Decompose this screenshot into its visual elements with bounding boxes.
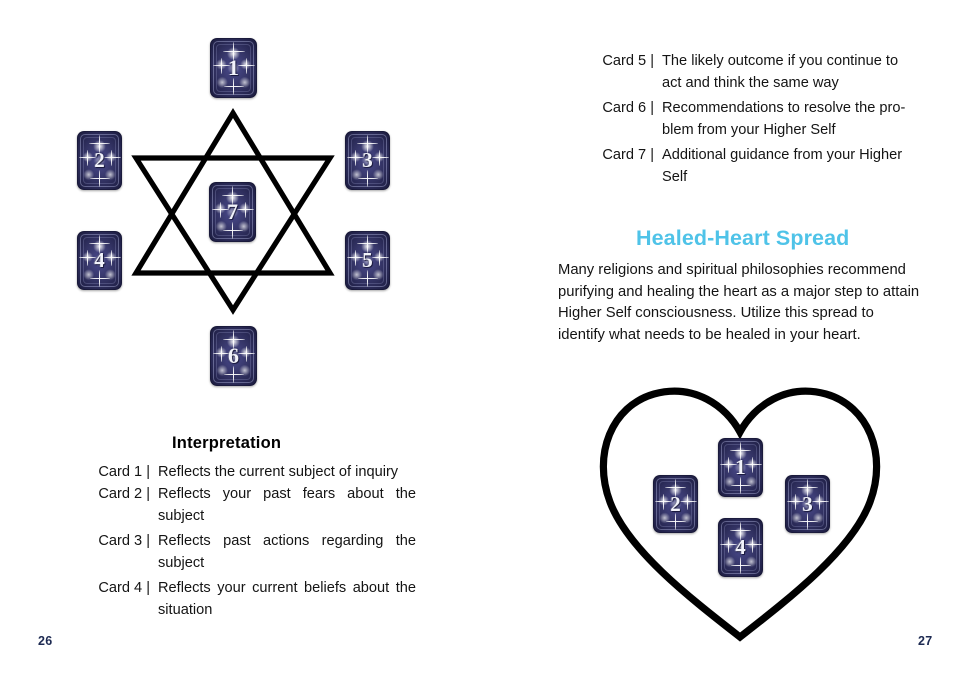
page-number-left: 26: [38, 634, 53, 648]
star-of-david-spread-diagram: 1 2 3: [0, 0, 480, 420]
spread-card-3[interactable]: 3: [345, 131, 390, 190]
card-description: Reflects the current subject of inquiry: [158, 464, 416, 480]
card-label: Card 5 |: [592, 53, 654, 69]
card-label: Card 1 |: [88, 464, 150, 480]
list-item: Card 7 | Additional guidance from your H…: [592, 144, 922, 188]
interpretation-heading: Interpretation: [172, 434, 281, 453]
card-description: The likely outcome if you continue to ac…: [662, 50, 920, 94]
list-item: Card 4 | Reflects your current beliefs a…: [88, 577, 418, 621]
spread-card-4[interactable]: 4: [77, 231, 122, 290]
card-number-label: 6: [210, 326, 257, 386]
heart-card-4[interactable]: 4: [718, 518, 763, 577]
continued-card-list: Card 5 | The likely outcome if you conti…: [592, 50, 922, 188]
list-item: Card 1 | Reflects the current subject of…: [88, 464, 418, 480]
book-spread-page: 1 2 3: [0, 0, 975, 675]
heart-card-2[interactable]: 2: [653, 475, 698, 533]
card-number-label: 3: [345, 131, 390, 190]
list-item: Card 6 | Recommendations to resolve the …: [592, 97, 922, 141]
list-item: Card 5 | The likely outcome if you conti…: [592, 50, 922, 94]
heart-card-3[interactable]: 3: [785, 475, 830, 533]
heart-outline: [590, 370, 900, 650]
card-description: Reflects your past fears about the subje…: [158, 483, 416, 527]
heart-card-1[interactable]: 1: [718, 438, 763, 497]
card-number-label: 1: [210, 38, 257, 98]
card-description: Additional guidance from your Higher Sel…: [662, 144, 920, 188]
card-number-label: 5: [345, 231, 390, 290]
card-number-label: 2: [653, 475, 698, 533]
card-label: Card 4 |: [88, 580, 150, 596]
card-description: Reflects past actions regarding the subj…: [158, 530, 416, 574]
card-label: Card 2 |: [88, 486, 150, 502]
card-number-label: 1: [718, 438, 763, 497]
interpretation-list: Card 1 | Reflects the current subject of…: [88, 464, 418, 621]
card-number-label: 2: [77, 131, 122, 190]
spread-card-1[interactable]: 1: [210, 38, 257, 98]
card-label: Card 3 |: [88, 533, 150, 549]
spread-card-5[interactable]: 5: [345, 231, 390, 290]
card-number-label: 4: [77, 231, 122, 290]
card-number-label: 7: [209, 182, 256, 242]
healed-heart-paragraph: Many religions and spiritual philosophie…: [558, 260, 922, 346]
card-description: Reflects your current beliefs about the …: [158, 577, 416, 621]
spread-card-2[interactable]: 2: [77, 131, 122, 190]
list-item: Card 3 | Reflects past actions regarding…: [88, 530, 418, 574]
list-item: Card 2 | Reflects your past fears about …: [88, 483, 418, 527]
healed-heart-spread-diagram: 1 2 3: [590, 370, 900, 650]
card-number-label: 4: [718, 518, 763, 577]
healed-heart-spread-heading: Healed-Heart Spread: [636, 226, 849, 251]
spread-card-6[interactable]: 6: [210, 326, 257, 386]
card-label: Card 6 |: [592, 100, 654, 116]
spread-card-7[interactable]: 7: [209, 182, 256, 242]
card-number-label: 3: [785, 475, 830, 533]
card-description: Recommendations to resolve the pro-blem …: [662, 97, 920, 141]
card-label: Card 7 |: [592, 147, 654, 163]
page-number-right: 27: [918, 634, 933, 648]
